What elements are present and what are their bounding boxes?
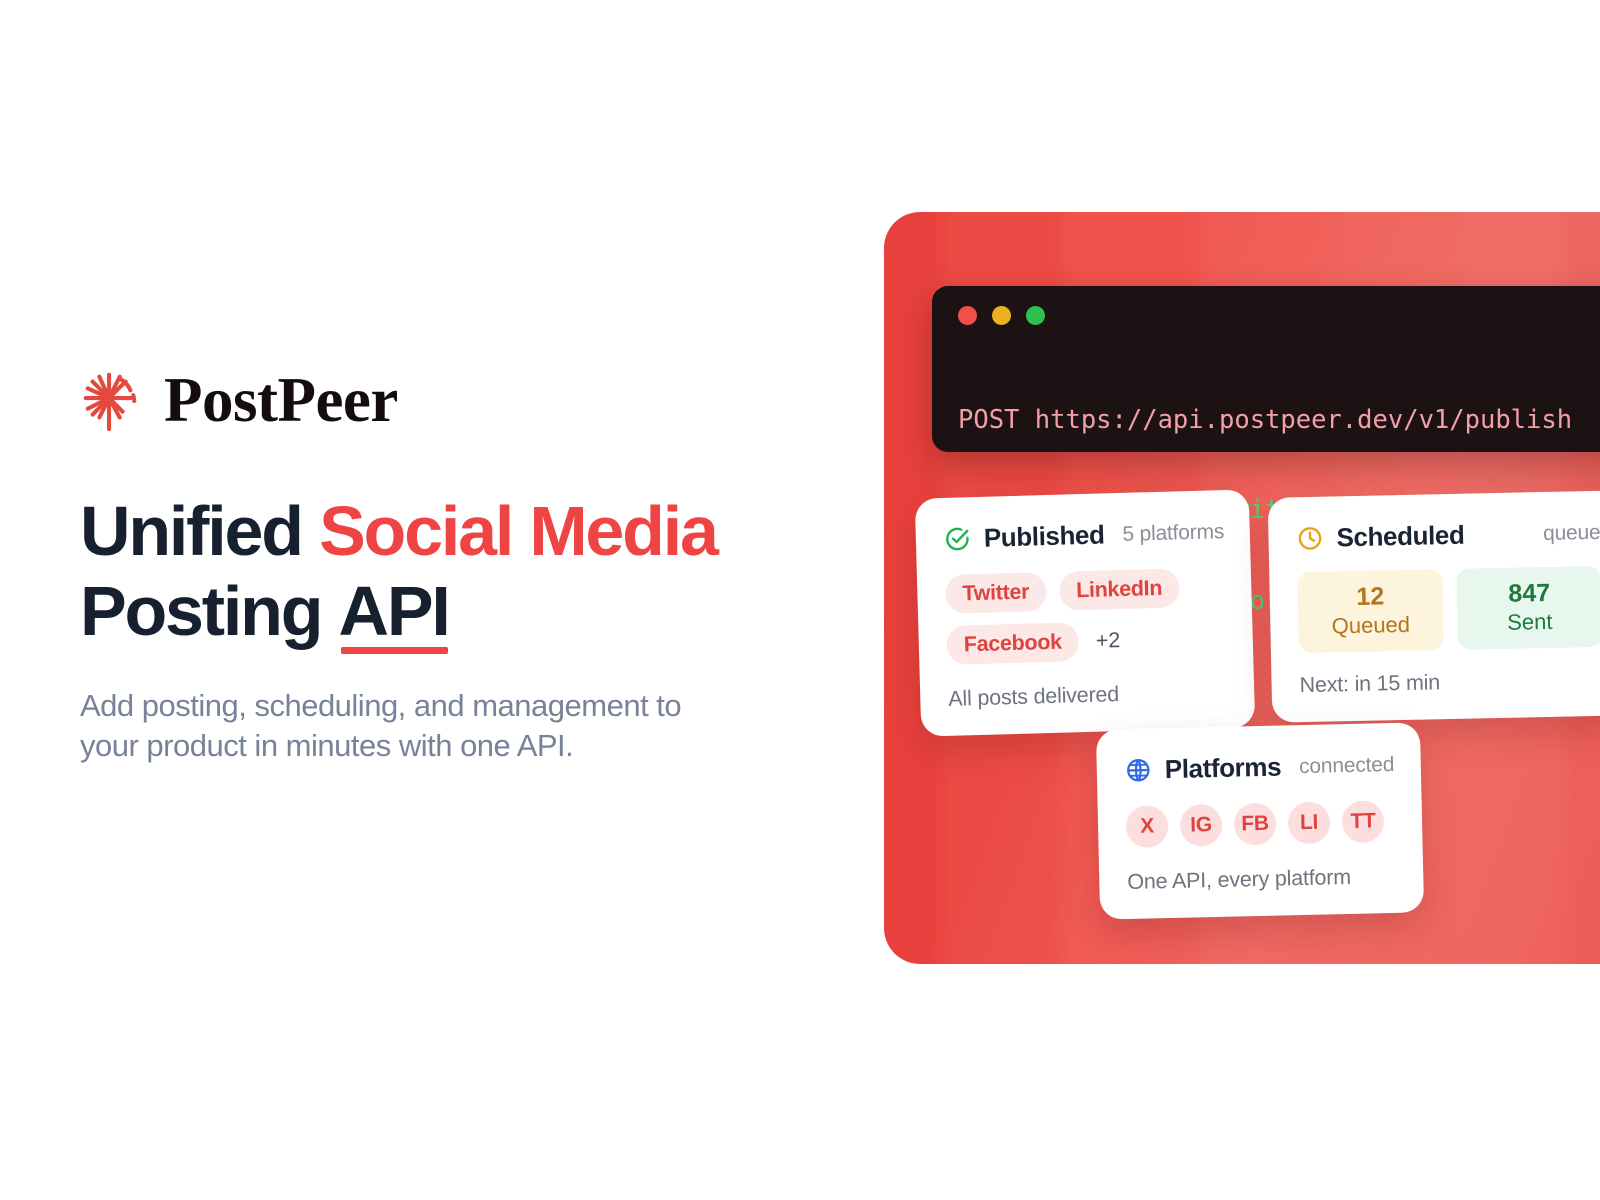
platforms-card-title: Platforms [1164,752,1281,786]
stat-queued-value: 12 [1307,581,1433,612]
brand-name: PostPeer [164,369,398,432]
hero-screenshot: PostPeer Unified Social Media Posting AP… [0,0,1600,1200]
brand-lockup: PostPeer [80,360,820,440]
hero-left-column: PostPeer Unified Social Media Posting AP… [80,360,820,766]
platforms-card[interactable]: Platforms connected X IG FB LI TT One AP… [1096,722,1424,919]
scheduled-card-meta: queue [1525,520,1600,546]
code-terminal: POST https://api.postpeer.dev/v1/publish… [932,286,1600,452]
stat-queued-label: Queued [1308,610,1434,640]
stat-sent: 847 Sent [1456,566,1600,650]
page-title: Unified Social Media Posting API [80,492,820,652]
scheduled-stats: 12 Queued 847 Sent [1297,566,1600,654]
platform-pill[interactable]: Twitter [945,572,1047,614]
published-card-footer: All posts delivered [948,679,1227,712]
stat-sent-value: 847 [1466,578,1592,609]
platform-overflow-count: +2 [1091,628,1120,654]
platform-badge-x[interactable]: X [1126,805,1169,848]
scheduled-card-title: Scheduled [1336,520,1464,554]
platform-badge-ig[interactable]: IG [1180,804,1223,847]
starburst-icon [80,369,142,431]
globe-icon [1125,756,1153,784]
published-pill-row-2: Facebook +2 [946,618,1225,665]
scheduled-card-footer: Next: in 15 min [1299,667,1600,698]
platforms-card-footer: One API, every platform [1127,864,1395,895]
scheduled-card-header: Scheduled queue [1296,517,1600,554]
published-card-title: Published [983,519,1104,553]
scheduled-card[interactable]: Scheduled queue 12 Queued 847 Sent Next:… [1268,490,1600,723]
published-card-header: Published 5 platforms [943,516,1222,555]
headline-underlined: API [339,572,449,652]
headline-part-1: Unified [80,492,319,570]
hero-subhead: Add posting, scheduling, and management … [80,686,720,767]
headline-highlight: Social Media [319,492,717,570]
platforms-card-header: Platforms connected [1124,749,1393,786]
platform-badge-fb[interactable]: FB [1234,803,1277,846]
platform-pill[interactable]: LinkedIn [1059,568,1180,610]
terminal-window-controls [958,306,1600,325]
minimize-dot-icon[interactable] [992,306,1011,325]
platform-pill[interactable]: Facebook [946,622,1079,665]
platform-badge-tt[interactable]: TT [1342,800,1385,843]
maximize-dot-icon[interactable] [1026,306,1045,325]
close-dot-icon[interactable] [958,306,977,325]
headline-part-2: Posting [80,572,339,650]
clock-icon [1296,525,1324,553]
check-circle-icon [944,525,972,553]
platforms-card-meta: connected [1281,752,1395,779]
platform-badge-row: X IG FB LI TT [1126,800,1395,848]
published-pill-row-1: Twitter LinkedIn [945,567,1224,614]
terminal-request-line: POST https://api.postpeer.dev/v1/publish [958,405,1600,435]
stat-queued: 12 Queued [1297,569,1444,653]
platform-badge-li[interactable]: LI [1288,801,1331,844]
published-card-meta: 5 platforms [1104,520,1224,547]
published-card[interactable]: Published 5 platforms Twitter LinkedIn F… [915,489,1256,736]
stat-sent-label: Sent [1467,607,1593,637]
